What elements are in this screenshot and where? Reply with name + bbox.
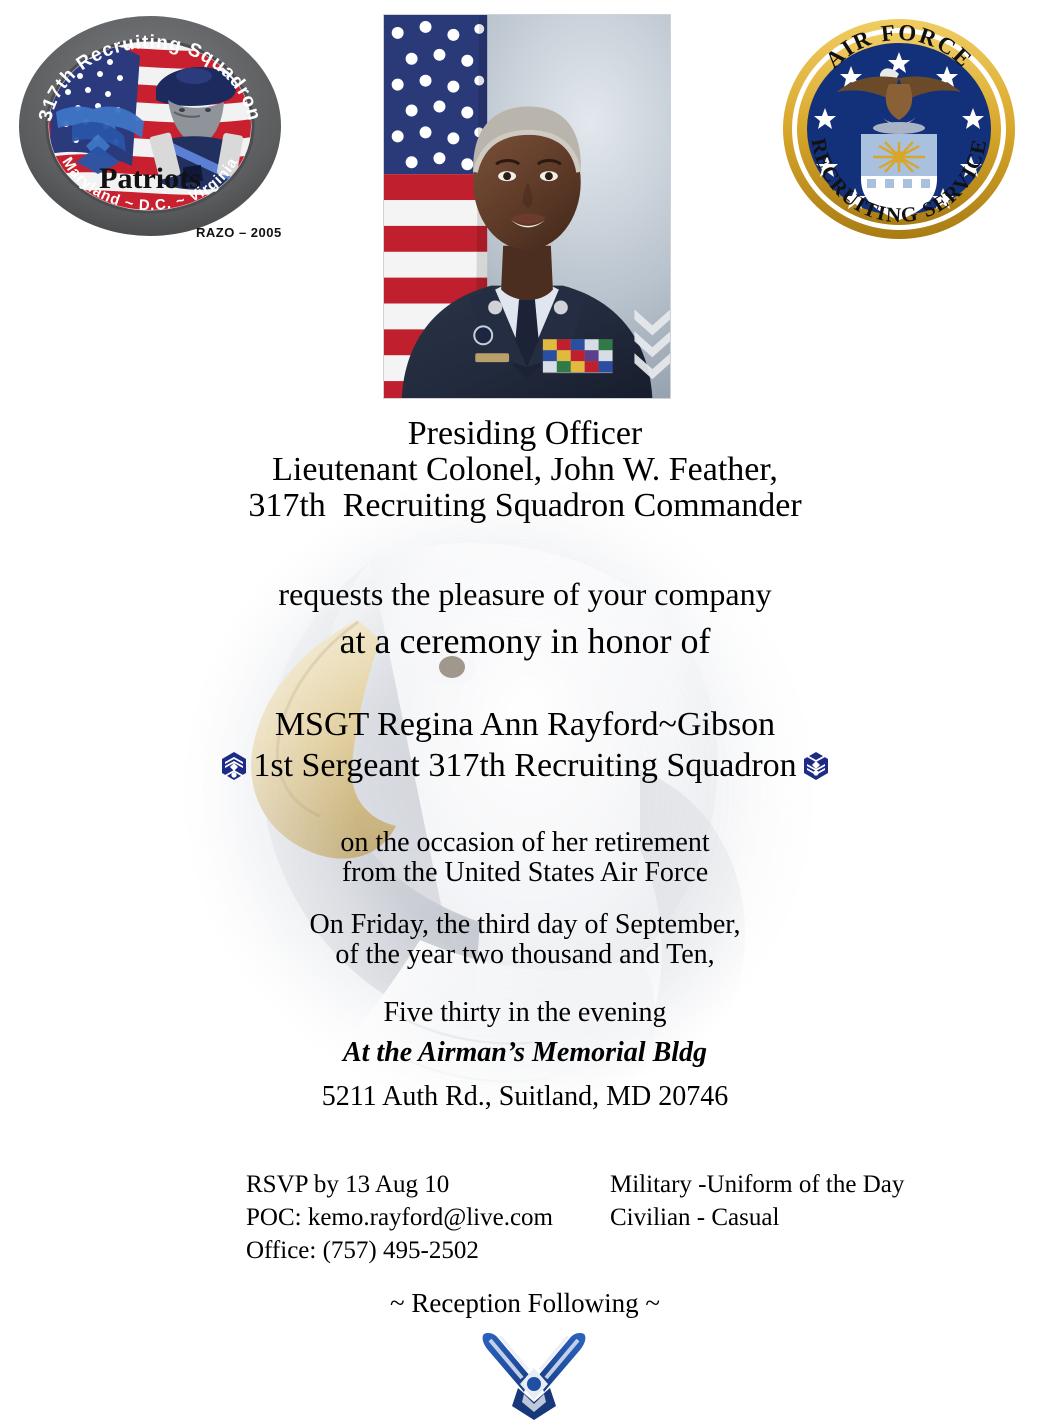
first-sergeant-chevron-left-icon: [221, 751, 247, 781]
first-sergeant-chevron-right-icon: [803, 751, 829, 781]
rsvp-deadline: RSVP by 13 Aug 10: [246, 1168, 553, 1201]
dress-code-block: Military -Uniform of the Day Civilian - …: [610, 1168, 904, 1234]
air-force-recruiting-service-seal: AIR FORCE RECRUITING SERVICE: [781, 16, 1017, 242]
squadron-patch-317th: Patriots 317th Recruiting Squadron Maryl…: [14, 16, 286, 246]
time-line: Five thirty in the evening: [0, 998, 1050, 1028]
honoree-portrait: [383, 14, 671, 399]
presiding-officer-block: Presiding Officer Lieutenant Colonel, Jo…: [0, 416, 1050, 524]
date-block: On Friday, the third day of September, o…: [0, 910, 1050, 969]
occasion-block: on the occasion of her retirement from t…: [0, 828, 1050, 887]
date-line-2: of the year two thousand and Ten,: [0, 940, 1050, 970]
dress-code-military: Military -Uniform of the Day: [610, 1168, 904, 1201]
rsvp-block: RSVP by 13 Aug 10 POC: kemo.rayford@live…: [246, 1168, 553, 1267]
air-force-hap-arnold-wings-icon: [478, 1330, 590, 1422]
presiding-officer-title: 317th Recruiting Squadron Commander: [0, 488, 1050, 524]
occasion-line-2: from the United States Air Force: [0, 858, 1050, 888]
honoree-duty-title-row: 1st Sergeant 317th Recruiting Squadron: [0, 748, 1050, 784]
rsvp-poc-email[interactable]: POC: kemo.rayford@live.com: [246, 1201, 553, 1234]
invitation-page: Patriots 317th Recruiting Squadron Maryl…: [0, 0, 1050, 1425]
honor-line: at a ceremony in honor of: [0, 622, 1050, 660]
request-line: requests the pleasure of your company: [0, 578, 1050, 612]
honoree-duty-title: 1st Sergeant 317th Recruiting Squadron: [253, 748, 796, 784]
dress-code-civilian: Civilian - Casual: [610, 1201, 904, 1234]
patch-credit-text: RAZO – 2005: [196, 225, 282, 240]
presiding-officer-label: Presiding Officer: [0, 416, 1050, 452]
presiding-officer-name: Lieutenant Colonel, John W. Feather,: [0, 452, 1050, 488]
rsvp-office-phone[interactable]: Office: (757) 495-2502: [246, 1234, 553, 1267]
reception-note: ~ Reception Following ~: [0, 1288, 1050, 1319]
venue-name: At the Airman’s Memorial Bldg: [0, 1038, 1050, 1068]
date-line-1: On Friday, the third day of September,: [0, 910, 1050, 940]
venue-address: 5211 Auth Rd., Suitland, MD 20746: [0, 1082, 1050, 1112]
honoree-name: MSGT Regina Ann Rayford~Gibson: [0, 707, 1050, 743]
portrait-ribbon-rack: [543, 339, 613, 373]
occasion-line-1: on the occasion of her retirement: [0, 828, 1050, 858]
svg-text:Patriots: Patriots: [99, 162, 201, 195]
